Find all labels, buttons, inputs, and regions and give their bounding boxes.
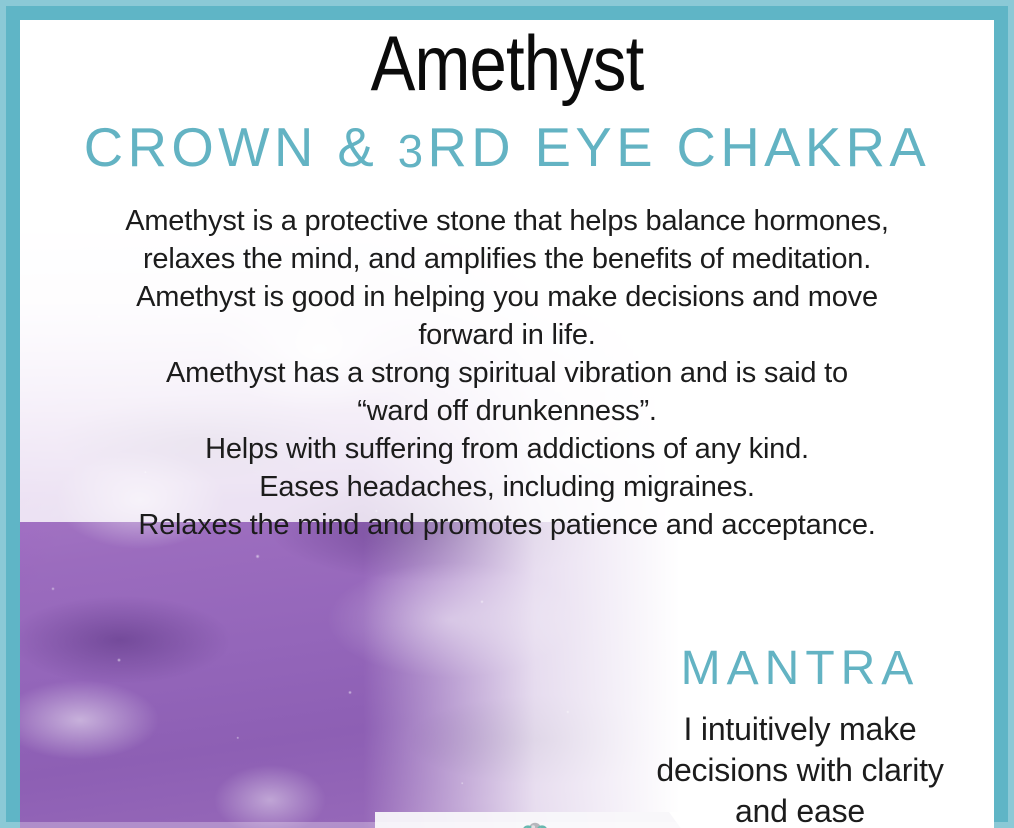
mantra-line: decisions with clarity [620,750,980,791]
subtitle-before: CROWN & [84,116,398,178]
body-line: Relaxes the mind and promotes patience a… [48,506,966,544]
body-line: Amethyst is a protective stone that help… [48,202,966,240]
amethyst-info-card: Amethyst CROWN & 3RD EYE CHAKRA Amethyst… [0,0,1014,828]
card-canvas: Amethyst CROWN & 3RD EYE CHAKRA Amethyst… [20,20,994,828]
mantra-heading: MANTRA [620,645,980,693]
chakra-subtitle: CROWN & 3RD EYE CHAKRA [25,120,989,175]
body-line: forward in life. [48,316,966,354]
body-description: Amethyst is a protective stone that help… [48,202,966,544]
card-content: Amethyst CROWN & 3RD EYE CHAKRA Amethyst… [20,20,994,828]
body-line: Amethyst is good in helping you make dec… [48,278,966,316]
mantra-text: I intuitively make decisions with clarit… [620,709,980,828]
subtitle-after: RD EYE CHAKRA [428,116,931,178]
body-line: Eases headaches, including migraines. [48,468,966,506]
subtitle-ordinal-numeral: 3 [398,125,428,177]
mantra-line: I intuitively make [620,709,980,750]
logo-plate [375,812,695,828]
page-title: Amethyst [88,24,926,102]
body-line: relaxes the mind, and amplifies the bene… [48,240,966,278]
mantra-section: MANTRA I intuitively make decisions with… [620,645,980,828]
body-line: Amethyst has a strong spiritual vibratio… [48,354,966,392]
logo-plate-corner-notch [669,812,695,828]
body-line: Helps with suffering from addictions of … [48,430,966,468]
body-line: “ward off drunkenness”. [48,392,966,430]
beaded-tree-logo-icon [487,822,583,828]
